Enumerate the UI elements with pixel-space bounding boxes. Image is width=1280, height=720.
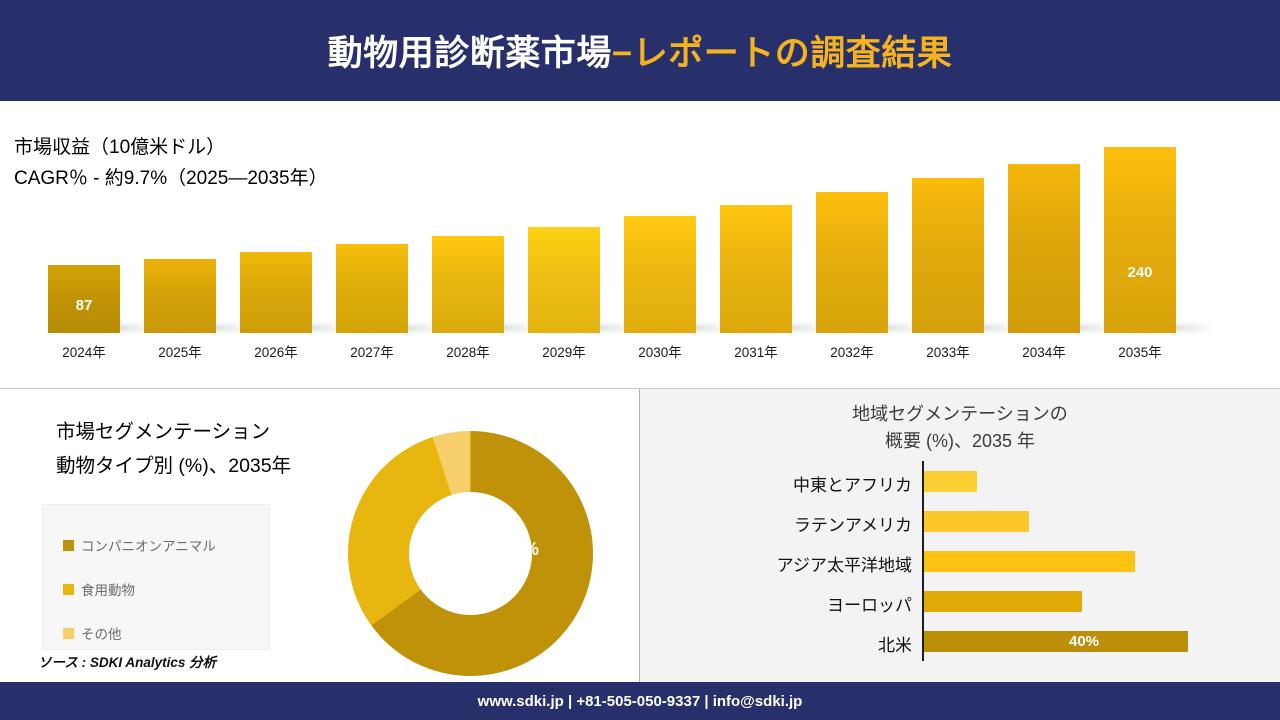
bar-category-label: 2035年 — [1095, 341, 1185, 361]
segmentation-legend: コンパニオンアニマル食用動物その他 — [42, 504, 270, 650]
bar-column: 2026年 — [240, 131, 336, 363]
bar-rect — [240, 252, 312, 333]
bar-category-label: 2033年 — [903, 341, 993, 361]
bar-rect — [816, 192, 888, 333]
legend-item[interactable]: コンパニオンアニマル — [63, 523, 269, 567]
bar-column: 2030年 — [624, 131, 720, 363]
bar-category-label: 2025年 — [135, 341, 225, 361]
footer-band: www.sdki.jp | +81-505-050-9337 | info@sd… — [0, 682, 1280, 720]
bar-column: 2034年 — [1008, 131, 1104, 363]
region-name-label: アジア太平洋地域 — [640, 551, 912, 576]
bar-rect — [432, 236, 504, 333]
bar-column: 2029年 — [528, 131, 624, 363]
segmentation-donut-chart: 65% — [348, 431, 593, 676]
bar-category-label: 2034年 — [999, 341, 1089, 361]
legend-item-label: その他 — [81, 623, 122, 643]
bar-column: 2028年 — [432, 131, 528, 363]
page-title-main: 動物用診断薬市場 — [328, 34, 612, 73]
segmentation-title-line1: 市場セグメンテーション — [56, 415, 291, 449]
regional-bar-chart: 中東とアフリカラテンアメリカアジア太平洋地域ヨーロッパ北米40% — [640, 461, 1280, 673]
header-band: 動物用診断薬市場−レポートの調査結果 — [0, 0, 1280, 101]
regional-title: 地域セグメンテーションの 概要 (%)、2035 年 — [640, 401, 1280, 455]
page-title: 動物用診断薬市場−レポートの調査結果 — [328, 25, 952, 76]
bar-category-label: 2032年 — [807, 341, 897, 361]
bar-rect — [528, 227, 600, 333]
bar-category-label: 2031年 — [711, 341, 801, 361]
region-bar — [924, 471, 977, 492]
legend-swatch-icon — [63, 584, 74, 595]
donut-value-label: 65% — [503, 539, 539, 560]
bar-column: 2027年 — [336, 131, 432, 363]
bar-rect — [336, 244, 408, 333]
footer-contact-text: www.sdki.jp | +81-505-050-9337 | info@sd… — [478, 693, 803, 710]
bar-category-label: 2026年 — [231, 341, 321, 361]
bar-category-label: 2028年 — [423, 341, 513, 361]
bar-column: 2032年 — [816, 131, 912, 363]
region-name-label: ヨーロッパ — [640, 591, 912, 616]
bar-column: 2033年 — [912, 131, 1008, 363]
bar-rect — [1104, 147, 1176, 333]
bar-value-label: 240 — [1104, 264, 1176, 281]
page-title-accent: −レポートの調査結果 — [612, 34, 952, 73]
bar-rect — [912, 178, 984, 333]
source-note: ソース : SDKI Analytics 分析 — [38, 651, 216, 671]
regional-segmentation-panel: 地域セグメンテーションの 概要 (%)、2035 年 中東とアフリカラテンアメリ… — [640, 389, 1280, 682]
bar-rect — [720, 205, 792, 333]
bar-column: 2031年 — [720, 131, 816, 363]
regional-title-line1: 地域セグメンテーションの — [640, 401, 1280, 428]
legend-item[interactable]: その他 — [63, 611, 269, 655]
legend-item-label: コンパニオンアニマル — [81, 535, 216, 555]
region-row: 北米40% — [640, 621, 1280, 661]
region-bar — [924, 551, 1135, 572]
regional-title-line2: 概要 (%)、2035 年 — [640, 428, 1280, 455]
segmentation-title-line2: 動物タイプ別 (%)、2035年 — [56, 449, 291, 483]
legend-item[interactable]: 食用動物 — [63, 567, 269, 611]
legend-item-label: 食用動物 — [81, 579, 135, 599]
bar-column: 872024年 — [48, 131, 144, 363]
market-revenue-section: 市場収益（10億米ドル） CAGR％ - 約9.7%（2025―2035年） 8… — [0, 101, 1280, 389]
region-bar — [924, 631, 1188, 652]
bar-column: 2025年 — [144, 131, 240, 363]
bar-rect — [1008, 164, 1080, 333]
region-name-label: 中東とアフリカ — [640, 471, 912, 496]
region-name-label: ラテンアメリカ — [640, 511, 912, 536]
legend-swatch-icon — [63, 628, 74, 639]
legend-swatch-icon — [63, 540, 74, 551]
bar-category-label: 2027年 — [327, 341, 417, 361]
region-row: アジア太平洋地域 — [640, 541, 1280, 581]
region-row: ヨーロッパ — [640, 581, 1280, 621]
region-name-label: 北米 — [640, 631, 912, 656]
region-bar — [924, 511, 1029, 532]
bar-category-label: 2024年 — [39, 341, 129, 361]
region-bar-value-label: 40% — [1069, 633, 1099, 650]
region-row: ラテンアメリカ — [640, 501, 1280, 541]
market-revenue-bar-chart: 872024年2025年2026年2027年2028年2029年2030年203… — [48, 131, 1238, 363]
bar-rect — [144, 259, 216, 333]
bar-column: 2402035年 — [1104, 131, 1200, 363]
segmentation-title: 市場セグメンテーション 動物タイプ別 (%)、2035年 — [56, 415, 291, 483]
region-bar — [924, 591, 1082, 612]
bar-category-label: 2030年 — [615, 341, 705, 361]
market-segmentation-panel: 市場セグメンテーション 動物タイプ別 (%)、2035年 コンパニオンアニマル食… — [0, 389, 640, 682]
bar-category-label: 2029年 — [519, 341, 609, 361]
bar-value-label: 87 — [48, 297, 120, 314]
bar-rect — [624, 216, 696, 333]
region-row: 中東とアフリカ — [640, 461, 1280, 501]
